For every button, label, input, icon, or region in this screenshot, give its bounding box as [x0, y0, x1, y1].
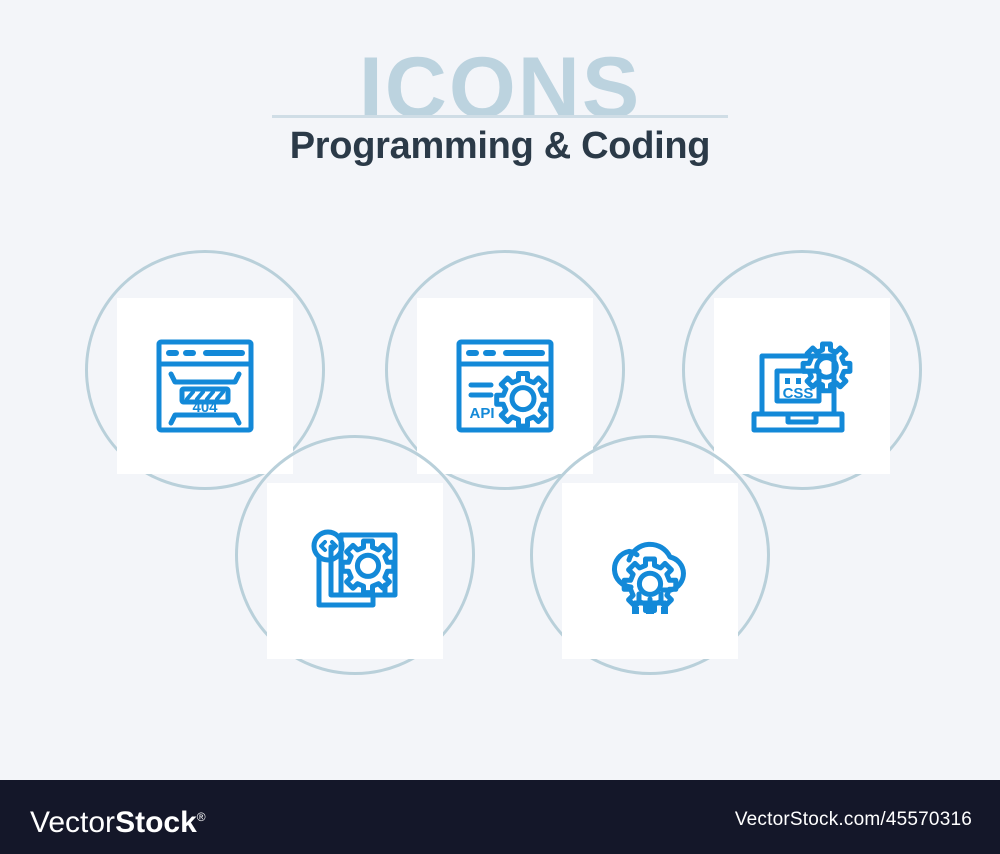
- page-title: Programming & Coding: [0, 125, 1000, 168]
- footer-source-url: VectorStock.com/45570316: [735, 809, 972, 831]
- cloud-settings-icon: [562, 483, 738, 659]
- watermark-heading-text: ICONS: [0, 44, 1000, 116]
- svg-text:CSS: CSS: [783, 385, 814, 402]
- title-divider-rule: [272, 115, 728, 118]
- icon-cell-code-files-settings[interactable]: [235, 435, 475, 675]
- watermark-heading: ICONS: [0, 44, 1000, 116]
- footer-bar: VectorStock® VectorStock.com/45570316: [0, 780, 1000, 854]
- registered-trademark-icon: ®: [197, 810, 206, 824]
- code-files-settings-icon: [267, 483, 443, 659]
- icon-grid: 404 API: [0, 200, 1000, 780]
- page-header: ICONS Programming & Coding: [0, 0, 1000, 200]
- svg-text:API: API: [469, 405, 494, 422]
- brand-name-bold: Stock: [115, 806, 197, 839]
- vectorstock-logo: VectorStock®: [30, 800, 206, 840]
- icon-cell-cloud-settings[interactable]: [530, 435, 770, 675]
- svg-text:404: 404: [192, 399, 218, 416]
- brand-name-light: Vector: [30, 806, 115, 839]
